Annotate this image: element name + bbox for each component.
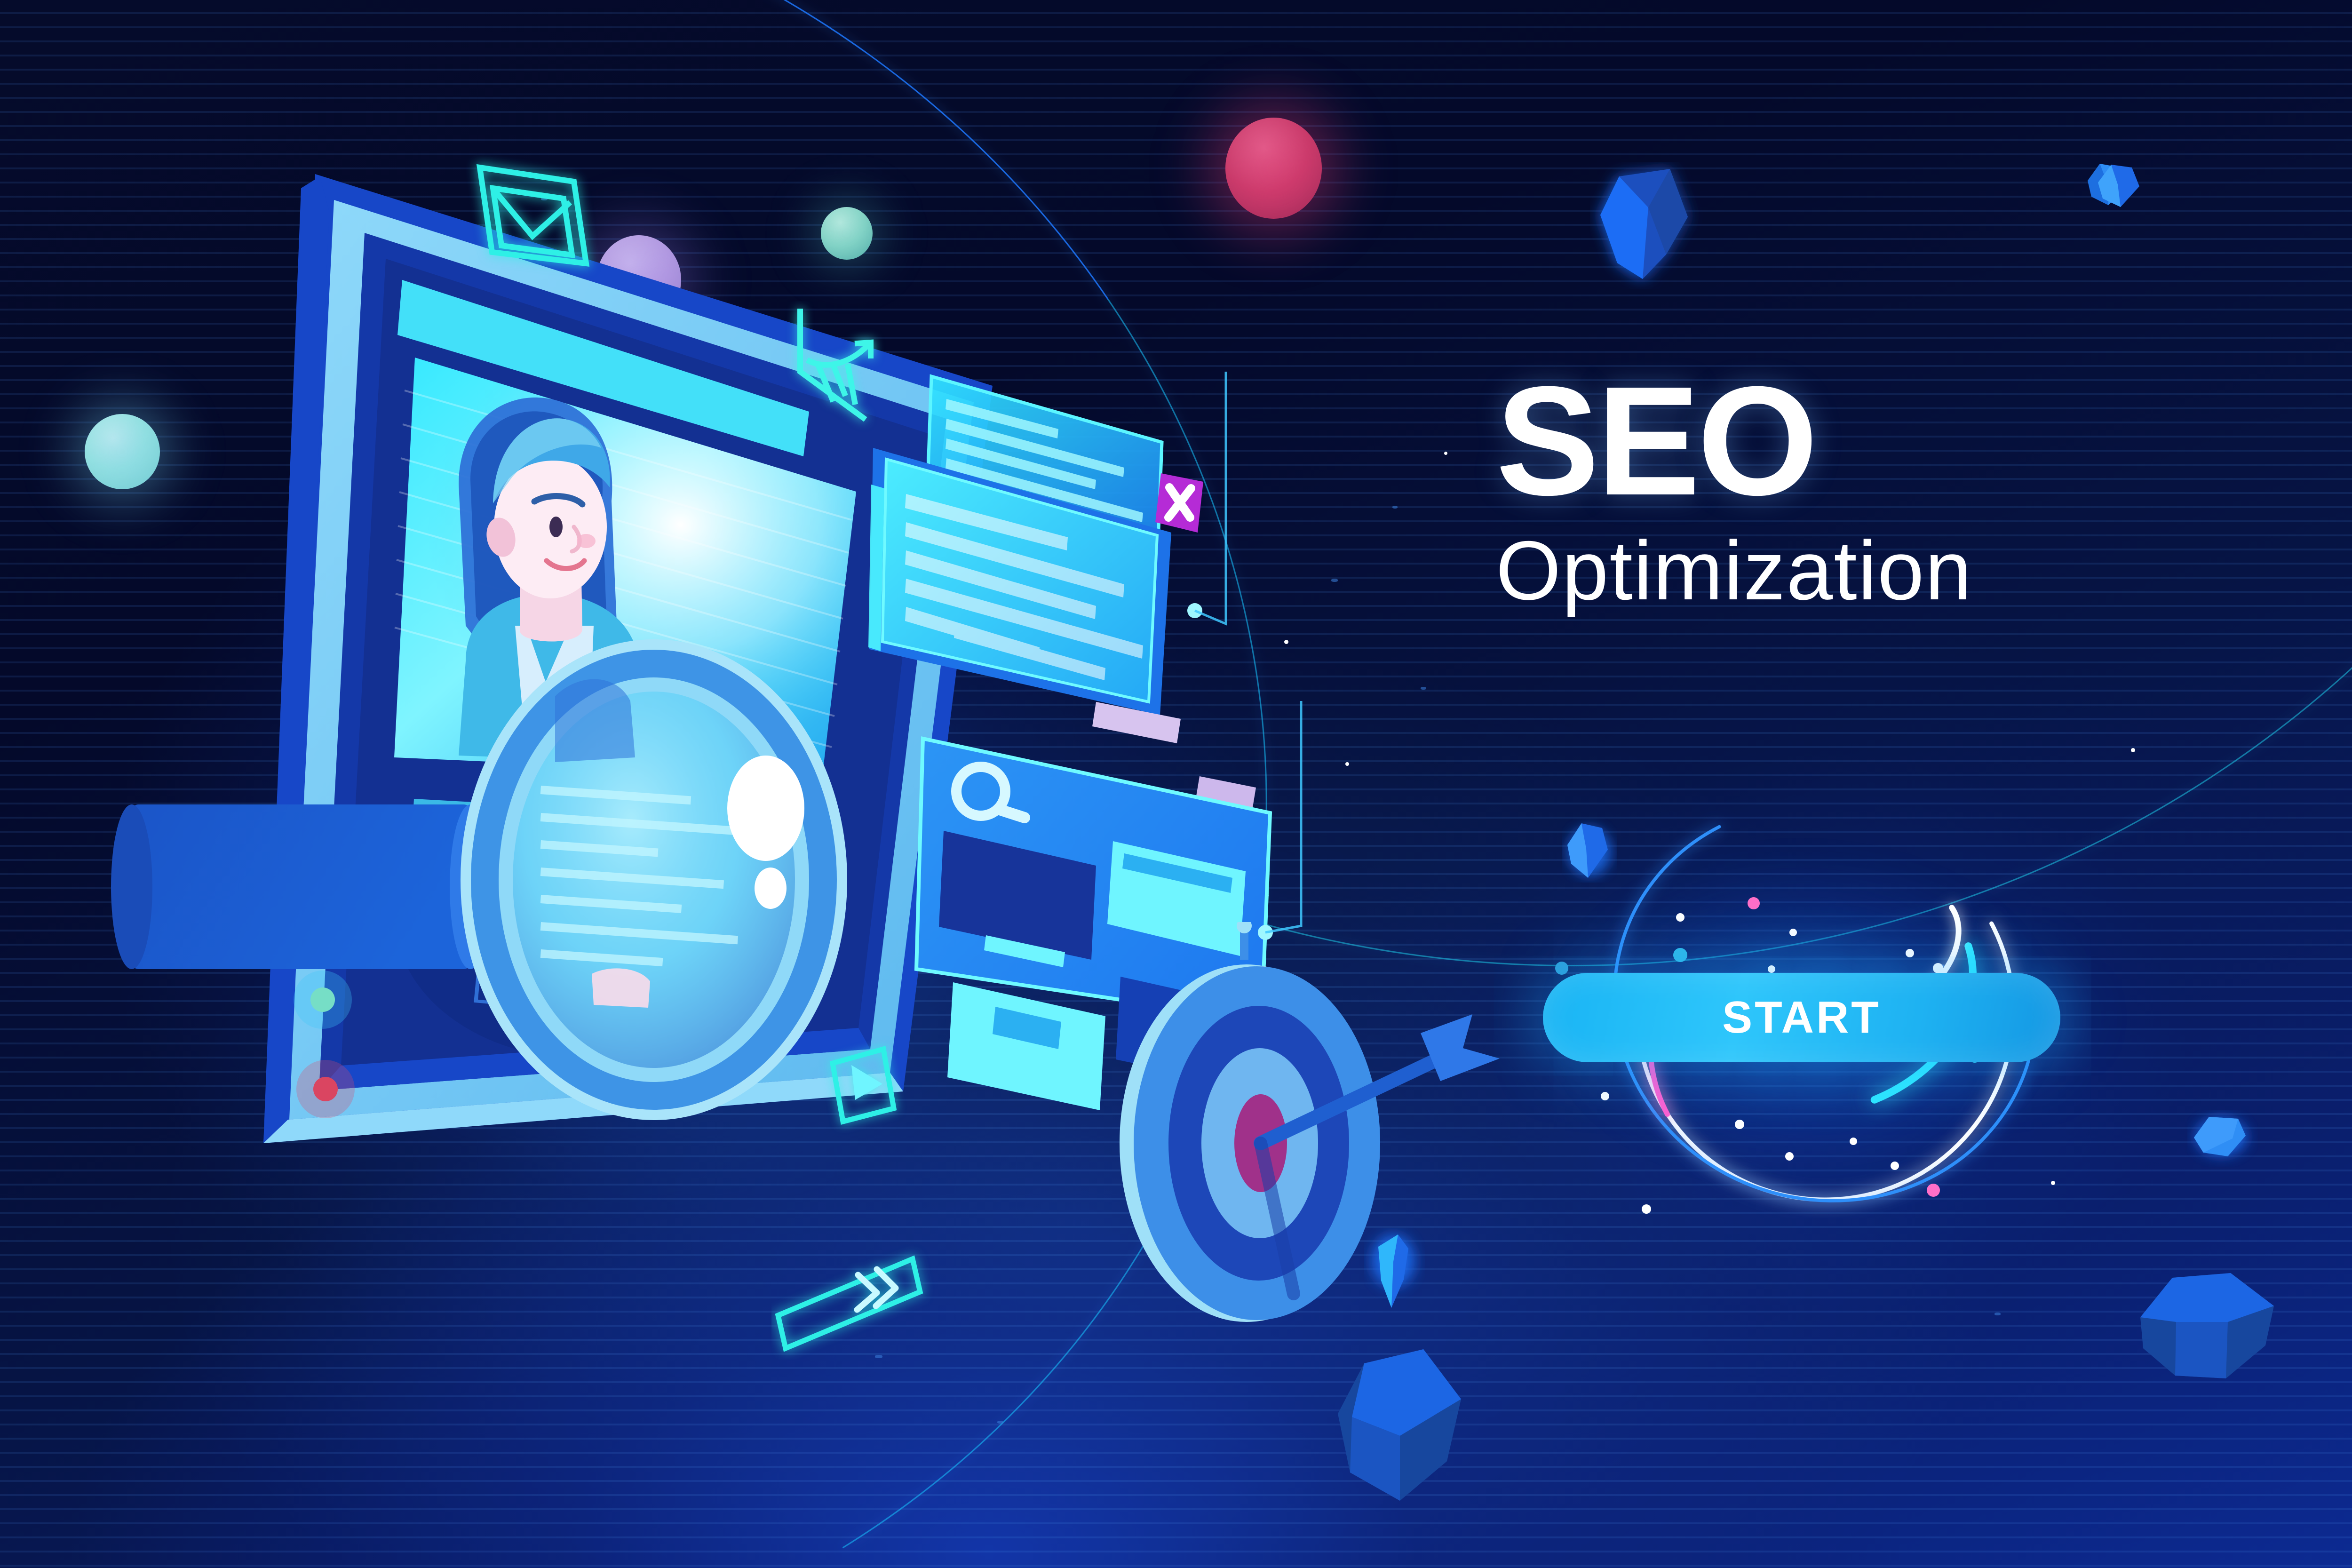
target-rings bbox=[1120, 964, 1380, 1322]
crystal-top-right bbox=[1590, 162, 1708, 289]
envelope-icon bbox=[466, 155, 607, 292]
dust-speck bbox=[1392, 506, 1398, 509]
magnifier-icon bbox=[103, 602, 866, 1157]
headline-block: SEO Optimization bbox=[1496, 367, 2249, 614]
start-button[interactable]: START bbox=[1543, 973, 2060, 1062]
lavender-tag-1 bbox=[1092, 702, 1181, 743]
page-title: SEO bbox=[1496, 367, 2249, 515]
dust-speck bbox=[1421, 687, 1426, 690]
crystal-bottom-mid bbox=[1331, 1331, 1486, 1524]
cta-block: START bbox=[1496, 795, 2154, 1218]
planet-teal-small bbox=[85, 414, 160, 489]
crystal-bottom-right bbox=[2136, 1266, 2291, 1388]
double-chevron-right-icon[interactable] bbox=[771, 1223, 969, 1360]
planet-crimson bbox=[1225, 118, 1322, 219]
star-dot bbox=[2131, 748, 2135, 752]
seo-landing-hero: LOREM IPSUM bbox=[0, 0, 2352, 1568]
magnifier-lens bbox=[466, 645, 842, 1115]
crystal-right-mid bbox=[2187, 1110, 2258, 1167]
crystal-far-right-top bbox=[2093, 160, 2145, 212]
page-subtitle: Optimization bbox=[1496, 527, 2249, 615]
dust-speck bbox=[1331, 579, 1338, 582]
dust-speck bbox=[1994, 1313, 2001, 1315]
dust-speck bbox=[997, 1421, 1003, 1424]
star-dot bbox=[1444, 452, 1447, 455]
close-x-icon[interactable] bbox=[1155, 473, 1203, 533]
star-dot bbox=[1345, 762, 1349, 766]
target-icon bbox=[1091, 922, 1538, 1345]
